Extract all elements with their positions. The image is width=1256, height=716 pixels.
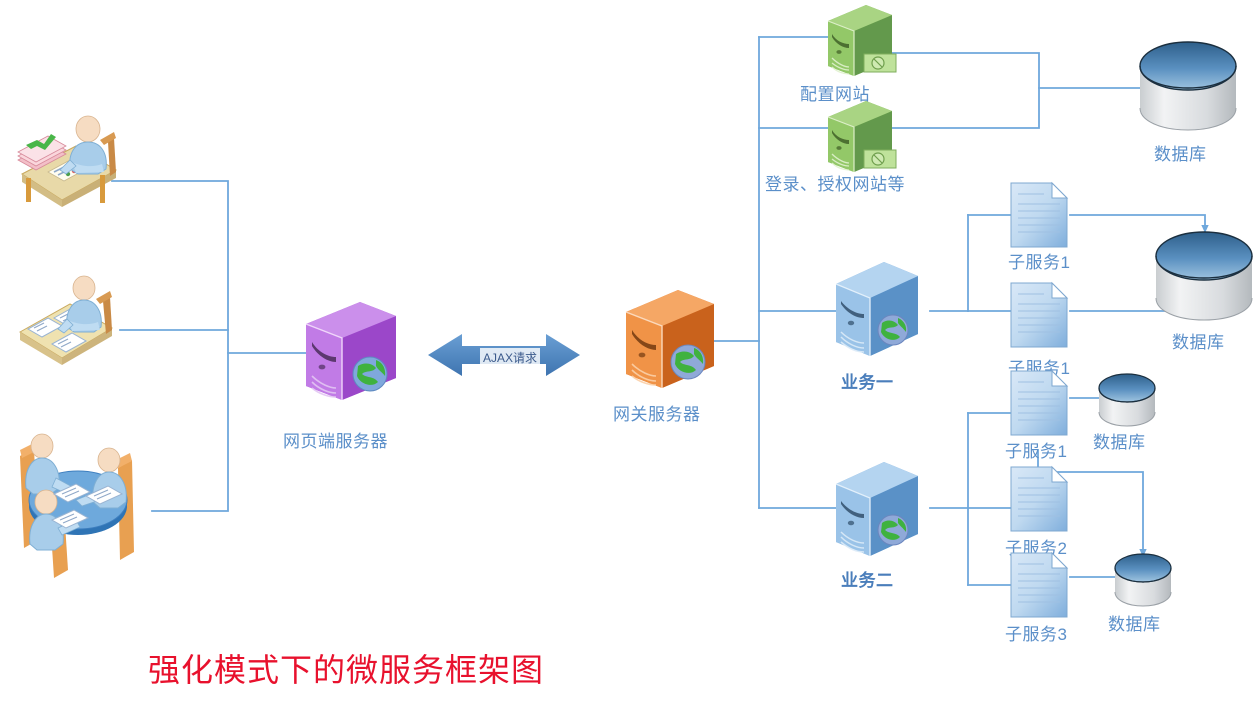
server-business-one[interactable]: [822, 258, 930, 362]
diagram-title: 强化模式下的微服务框架图: [148, 645, 544, 691]
document-page-icon: [1011, 183, 1067, 247]
server-auth-site[interactable]: [818, 98, 904, 176]
subservice-2c-label: 子服务3: [1005, 620, 1067, 645]
database-small-2[interactable]: [1112, 552, 1174, 610]
server-business-two[interactable]: [822, 458, 930, 562]
orange-server-tower-icon: [626, 290, 714, 388]
database-small-1[interactable]: [1096, 372, 1158, 430]
document-page-icon: [1011, 553, 1067, 617]
server-gateway[interactable]: [612, 286, 730, 394]
diagram-canvas: 网页端服务器 AJAX请求: [0, 0, 1256, 716]
green-server-tower-icon: [828, 5, 896, 76]
database-cylinder-icon: [1115, 554, 1171, 606]
client-meeting-table[interactable]: [6, 420, 151, 580]
server-gateway-label: 网关服务器: [613, 400, 701, 425]
server-auth-site-label: 登录、授权网站等: [765, 170, 905, 195]
person-at-desk-with-paper-stack-icon: [18, 116, 116, 207]
purple-server-tower-icon: [306, 302, 396, 400]
subservice-2a[interactable]: [1010, 370, 1070, 436]
document-page-icon: [1011, 467, 1067, 531]
server-web[interactable]: [288, 296, 412, 406]
server-business-one-label: 业务一: [841, 368, 894, 393]
three-people-at-round-table-icon: [20, 434, 134, 578]
database-small-2-label: 数据库: [1108, 610, 1161, 635]
server-web-label: 网页端服务器: [283, 427, 388, 452]
subservice-2c[interactable]: [1010, 552, 1070, 618]
database-mid-label: 数据库: [1172, 328, 1225, 353]
database-top-label: 数据库: [1154, 140, 1207, 165]
person-at-desk-with-documents-icon: [20, 276, 112, 365]
server-config-site[interactable]: [818, 2, 904, 80]
database-mid[interactable]: [1152, 228, 1256, 330]
database-small-1-label: 数据库: [1093, 428, 1146, 453]
document-page-icon: [1011, 283, 1067, 347]
subservice-2b[interactable]: [1010, 466, 1070, 532]
client-desk-approval[interactable]: [4, 112, 122, 212]
database-top[interactable]: [1136, 38, 1240, 140]
server-business-two-label: 业务二: [841, 566, 894, 591]
ajax-label: AJAX请求: [480, 348, 540, 367]
client-desk-documents[interactable]: [8, 274, 120, 366]
document-page-icon: [1011, 371, 1067, 435]
database-cylinder-icon: [1099, 374, 1155, 426]
subservice-1a[interactable]: [1010, 182, 1070, 248]
blue-server-tower-icon: [836, 262, 918, 356]
database-cylinder-icon: [1156, 232, 1252, 320]
database-cylinder-icon: [1140, 42, 1236, 130]
subservice-2a-label: 子服务1: [1005, 437, 1067, 462]
subservice-1a-label: 子服务1: [1008, 248, 1070, 273]
subservice-1b[interactable]: [1010, 282, 1070, 348]
green-server-tower-icon: [828, 101, 896, 172]
blue-server-tower-icon: [836, 462, 918, 556]
